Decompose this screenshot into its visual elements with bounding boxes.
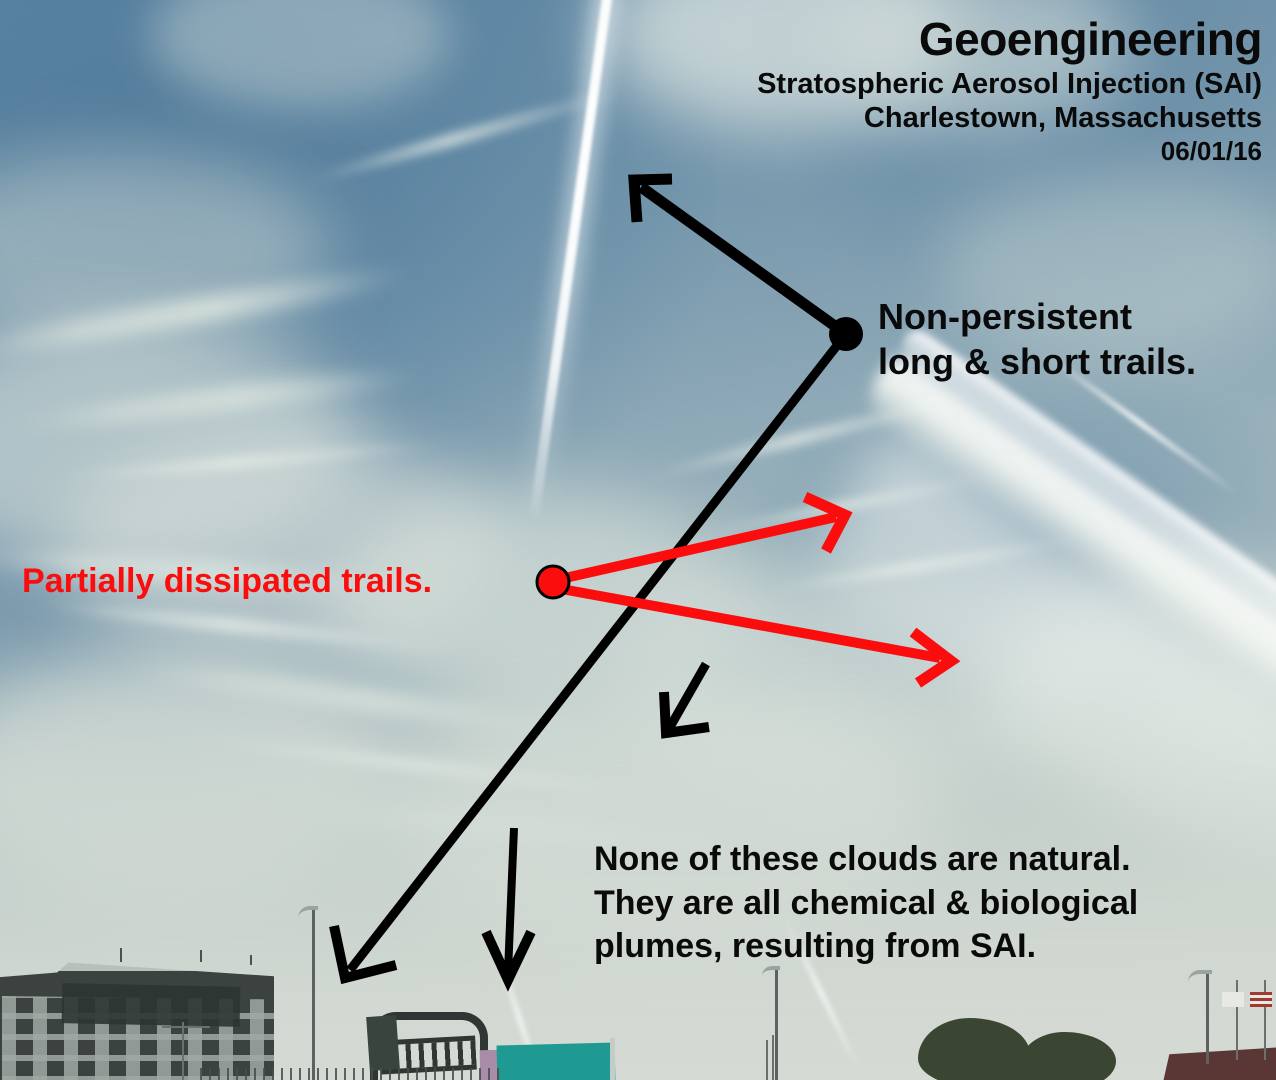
arrow-black-vertical-down: [486, 828, 531, 980]
page-title: Geoengineering: [757, 16, 1262, 62]
black-dot-marker: [829, 317, 863, 351]
arrow-black-branch: [664, 664, 709, 733]
title-block: Geoengineering Stratospheric Aerosol Inj…: [757, 16, 1262, 166]
label-line-1: Non-persistent: [878, 295, 1196, 340]
annotated-photo-canvas: Geoengineering Stratospheric Aerosol Inj…: [0, 0, 1276, 1080]
page-location: Charlestown, Massachusetts: [757, 102, 1262, 134]
statement-line-1: None of these clouds are natural.: [594, 838, 1138, 882]
page-subtitle: Stratospheric Aerosol Injection (SAI): [757, 68, 1262, 100]
arrow-black-up-left: [634, 179, 846, 334]
statement-line-2: They are all chemical & biological: [594, 882, 1138, 926]
label-non-persistent-trails: Non-persistent long & short trails.: [878, 295, 1196, 384]
label-partially-dissipated-trails: Partially dissipated trails.: [22, 562, 432, 600]
label-line-2: long & short trails.: [878, 340, 1196, 385]
label-statement: None of these clouds are natural. They a…: [594, 838, 1138, 969]
arrow-red-upper-right: [556, 497, 845, 580]
statement-line-3: plumes, resulting from SAI.: [594, 925, 1138, 969]
page-date: 06/01/16: [757, 137, 1262, 166]
red-dot-marker: [537, 566, 569, 598]
